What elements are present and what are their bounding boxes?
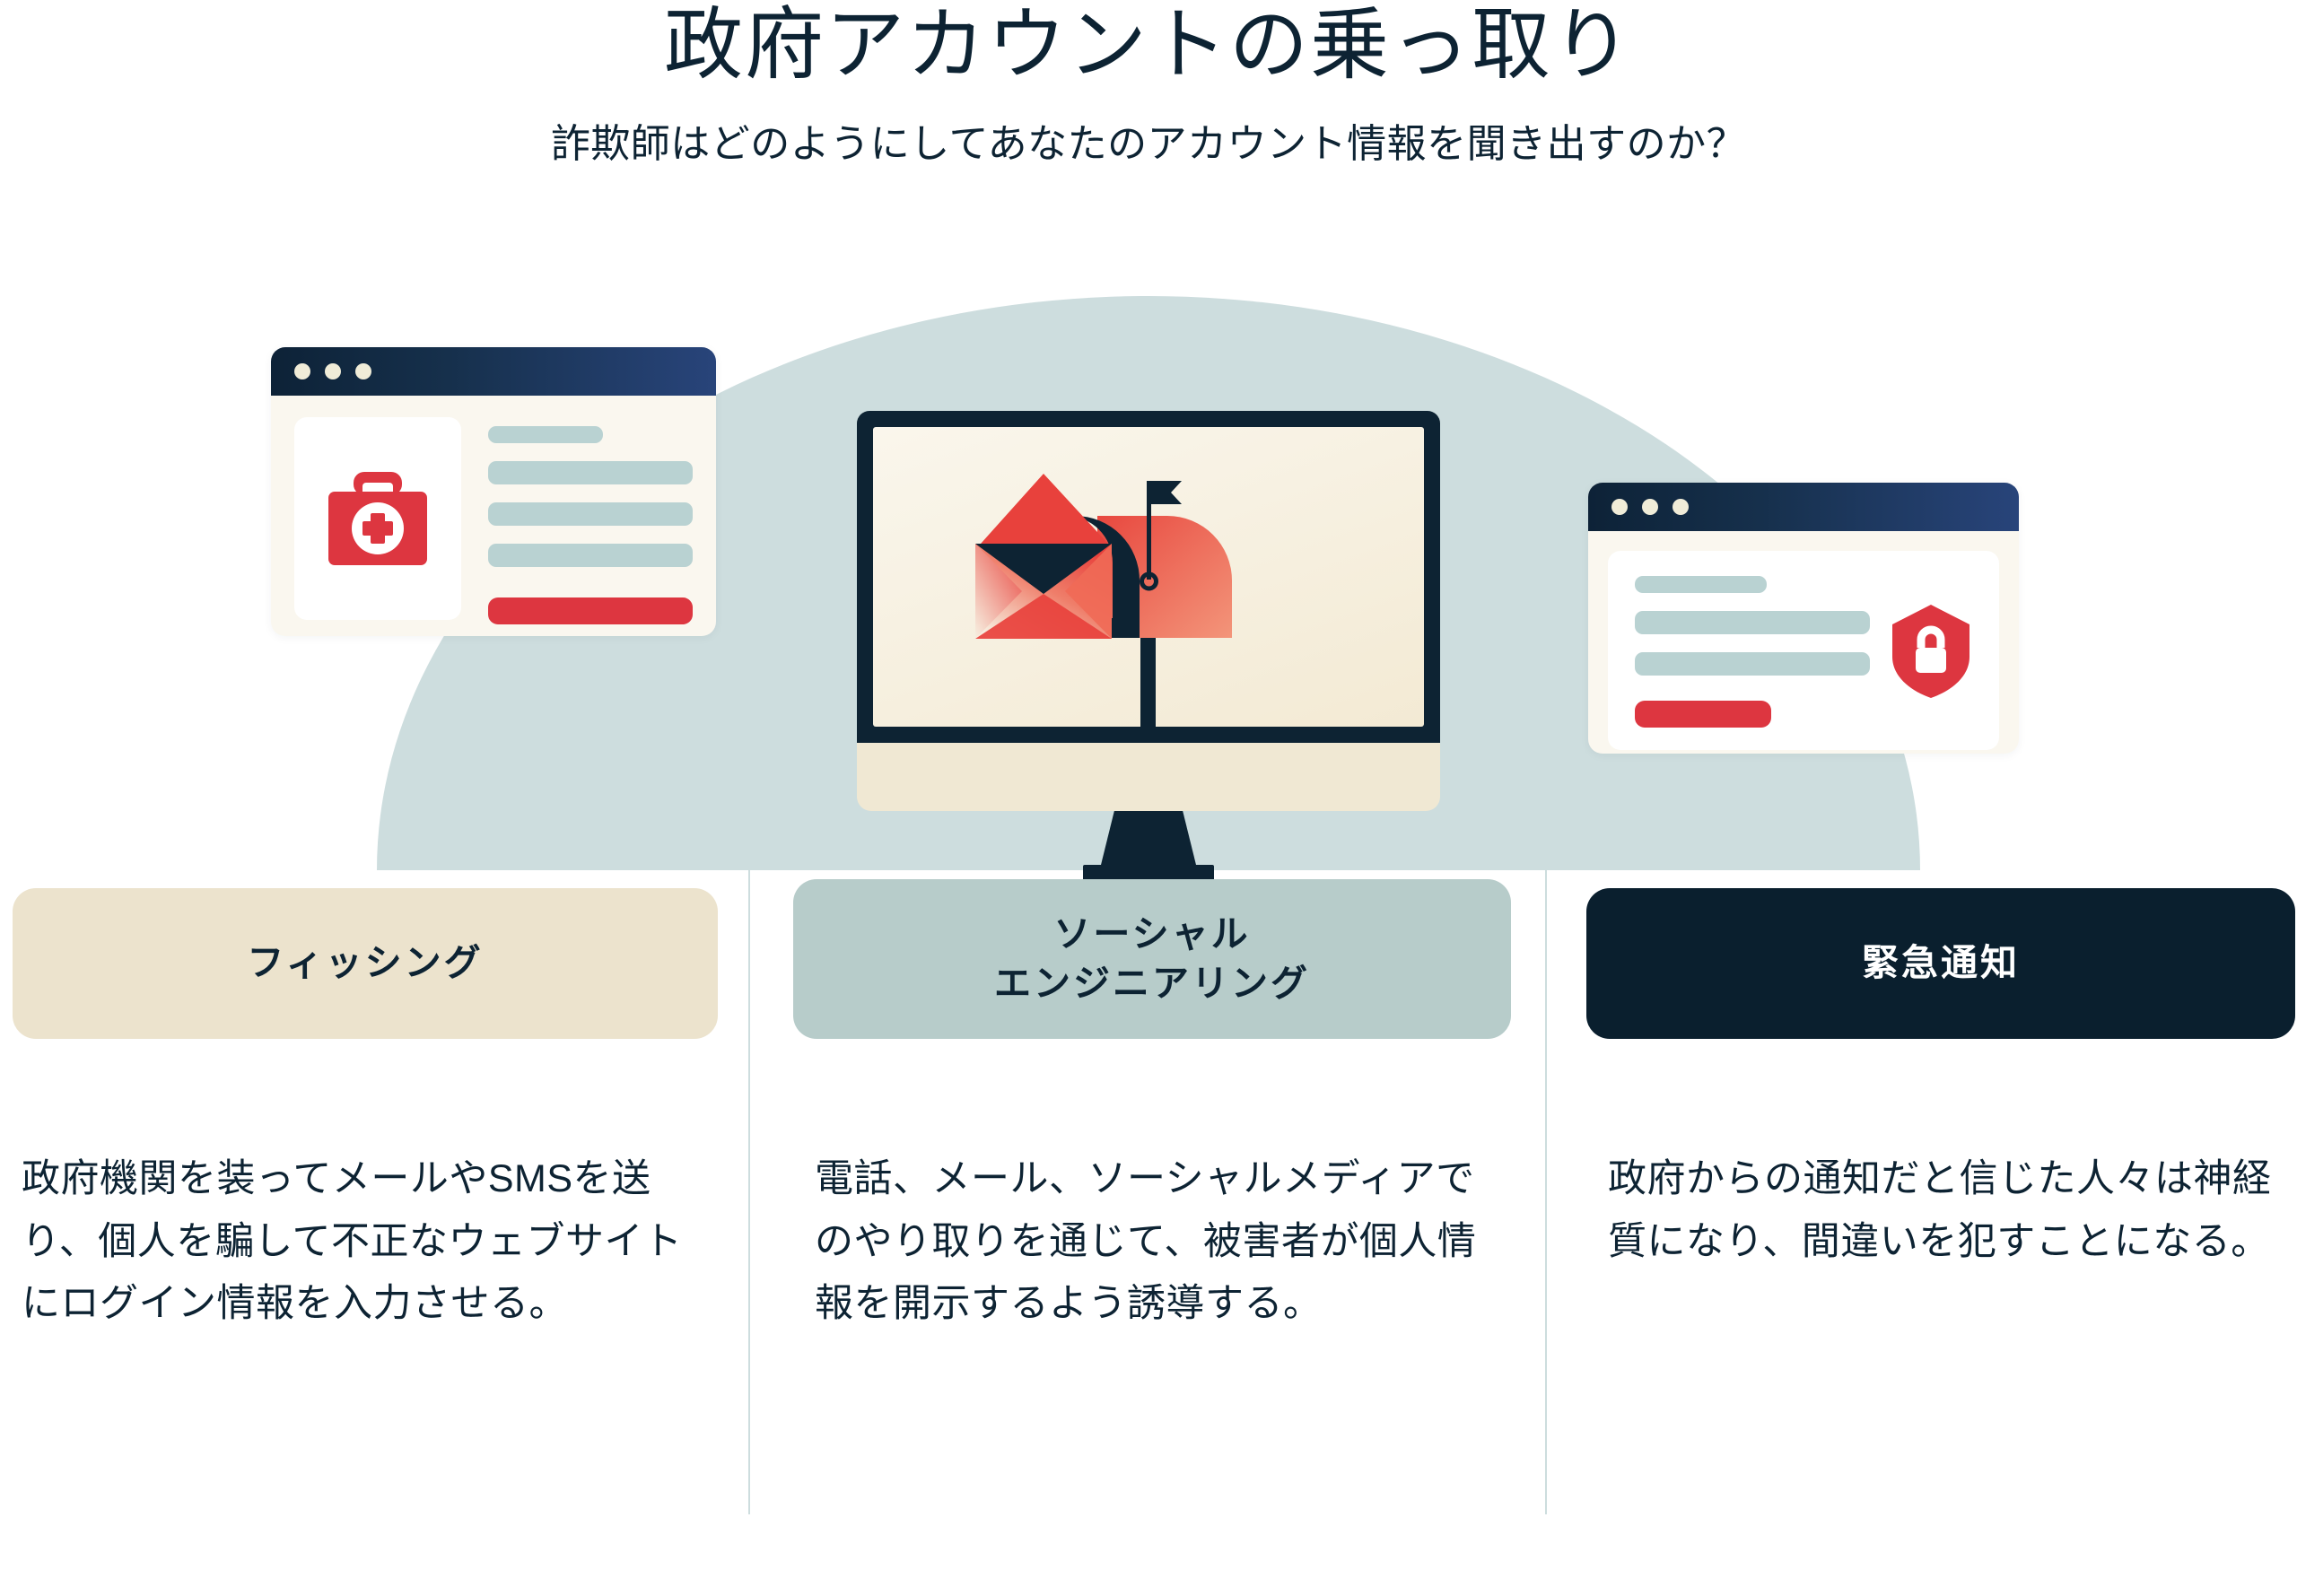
category-card-label: 緊急通知 <box>1862 938 2020 988</box>
window-control-dot-icon <box>1611 499 1628 515</box>
illustration-social-engineering-monitor <box>857 411 1440 881</box>
content-line <box>488 544 693 567</box>
category-cards-row: フィッシング ソーシャル エンジニアリング 緊急通知 <box>0 879 2297 1039</box>
illustration-urgent-notice-browser-window <box>1588 483 2019 754</box>
mailbox-post <box>1140 633 1156 727</box>
category-card-phishing[interactable]: フィッシング <box>13 888 718 1039</box>
content-line <box>1635 611 1870 634</box>
page-subtitle: 詐欺師はどのようにしてあなたのアカウント情報を聞き出すのか？ <box>0 121 2297 169</box>
description-phishing: 政府機関を装ってメールやSMSを送り、個人を騙して不正なウェブサイトにログイン情… <box>22 1148 703 1336</box>
first-aid-kit-icon <box>325 468 431 569</box>
monitor-screen <box>873 427 1424 727</box>
monitor-bezel <box>857 411 1440 743</box>
content-line <box>488 502 693 526</box>
primary-action-button[interactable] <box>488 597 693 624</box>
category-card-label: ソーシャル エンジニアリング <box>994 910 1310 1009</box>
monitor-stand-neck <box>1101 811 1196 865</box>
illustration-phishing-browser-window <box>271 347 716 636</box>
window-control-dot-icon <box>325 363 341 379</box>
page-title: 政府アカウントの乗っ取り <box>0 0 2297 87</box>
browser-text-lines <box>488 417 693 624</box>
header: 政府アカウントの乗っ取り 詐欺師はどのようにしてあなたのアカウント情報を聞き出す… <box>0 0 2297 169</box>
content-line <box>488 426 603 443</box>
window-control-dot-icon <box>355 363 371 379</box>
shield-badge <box>1890 576 1972 727</box>
primary-action-button[interactable] <box>1635 701 1771 728</box>
first-aid-card <box>294 417 461 620</box>
mailbox-flag-pole <box>1147 481 1151 580</box>
open-envelope-icon <box>975 474 1112 639</box>
browser-title-bar <box>271 347 716 396</box>
category-card-label-line1: ソーシャル <box>1053 913 1250 955</box>
content-line <box>1635 652 1870 676</box>
content-line <box>488 461 693 484</box>
browser-content <box>271 396 716 636</box>
shield-lock-icon <box>1891 603 1971 700</box>
browser-content <box>1588 531 2019 754</box>
category-card-urgent-notice[interactable]: 緊急通知 <box>1586 888 2295 1039</box>
window-control-dot-icon <box>1673 499 1689 515</box>
description-social-engineering: 電話、メール、ソーシャルメディアでのやり取りを通じて、被害者が個人情報を開示する… <box>815 1148 1479 1336</box>
envelope-flap-back <box>981 474 1108 544</box>
mailbox-scene <box>873 427 1424 727</box>
content-line <box>1635 576 1767 593</box>
browser-text-lines <box>1635 576 1870 727</box>
window-control-dot-icon <box>294 363 310 379</box>
browser-title-bar <box>1588 483 2019 531</box>
category-card-social-engineering[interactable]: ソーシャル エンジニアリング <box>793 879 1511 1039</box>
notice-card <box>1608 551 1999 750</box>
category-card-label: フィッシング <box>247 938 483 988</box>
window-control-dot-icon <box>1642 499 1658 515</box>
description-urgent-notice: 政府からの通知だと信じた人々は神経質になり、間違いを犯すことになる。 <box>1608 1148 2290 1273</box>
mailbox-flag-icon <box>1151 481 1182 504</box>
infographic-root: 政府アカウントの乗っ取り 詐欺師はどのようにしてあなたのアカウント情報を聞き出す… <box>0 0 2297 1596</box>
monitor-chin <box>857 743 1440 811</box>
category-card-label-line2: エンジニアリング <box>994 963 1310 1004</box>
